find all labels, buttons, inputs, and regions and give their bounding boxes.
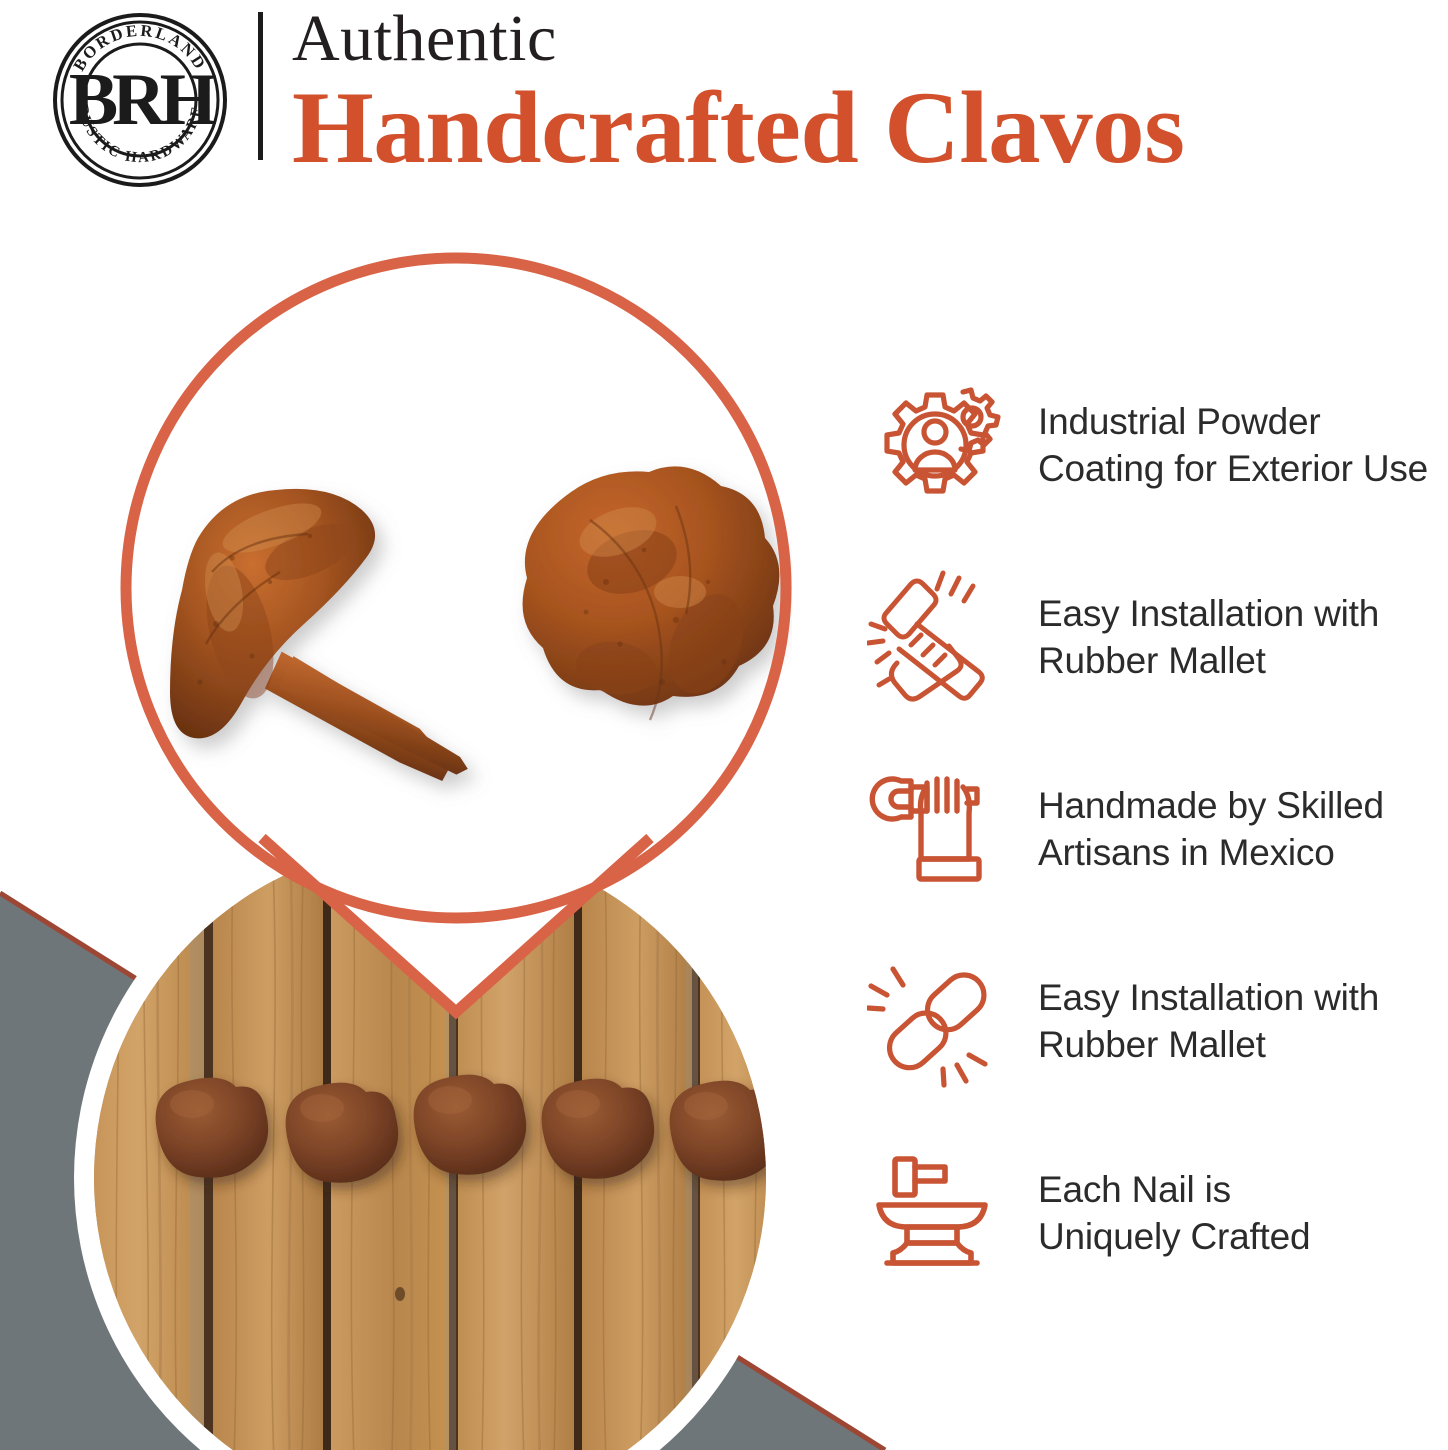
chain-link-icon <box>862 951 1012 1091</box>
header-divider <box>258 12 263 160</box>
feature-text-line: Each Nail is <box>1038 1166 1310 1213</box>
feature-text: Industrial Powder Coating for Exterior U… <box>1012 398 1428 492</box>
fist-wrench-icon <box>862 759 1012 899</box>
borderland-rustic-hardware-logo: BORDERLAND RUSTIC HARDWARE BRH <box>52 12 228 188</box>
feature-text-line: Easy Installation with <box>1038 974 1379 1021</box>
feature-item: Easy Installation with Rubber Mallet <box>862 948 1448 1094</box>
feature-text-line: Artisans in Mexico <box>1038 829 1384 876</box>
feature-text: Handmade by Skilled Artisans in Mexico <box>1012 782 1384 876</box>
magnifier-callout <box>120 252 792 1022</box>
feature-text-line: Easy Installation with <box>1038 590 1379 637</box>
title-line-authentic: Authentic <box>292 2 1442 76</box>
title-line-handcrafted-clavos: Handcrafted Clavos <box>292 76 1448 180</box>
gear-person-icon <box>862 375 1012 515</box>
feature-text-line: Handmade by Skilled <box>1038 782 1384 829</box>
feature-item: Industrial Powder Coating for Exterior U… <box>862 372 1448 518</box>
feature-item: Easy Installation with Rubber Mallet <box>862 564 1448 710</box>
feature-text-line: Rubber Mallet <box>1038 1021 1379 1068</box>
page-title: Authentic Handcrafted Clavos <box>292 2 1442 180</box>
anvil-hammer-icon <box>862 1143 1012 1283</box>
feature-item: Each Nail is Uniquely Crafted <box>862 1140 1448 1286</box>
feature-text: Easy Installation with Rubber Mallet <box>1012 974 1379 1068</box>
feature-text-line: Coating for Exterior Use <box>1038 445 1428 492</box>
infographic-canvas: BORDERLAND RUSTIC HARDWARE BRH Authentic… <box>0 0 1448 1450</box>
feature-text-line: Industrial Powder <box>1038 398 1428 445</box>
feature-text: Easy Installation with Rubber Mallet <box>1012 590 1379 684</box>
feature-text-line: Rubber Mallet <box>1038 637 1379 684</box>
feature-item: Handmade by Skilled Artisans in Mexico <box>862 756 1448 902</box>
feature-text-line: Uniquely Crafted <box>1038 1213 1310 1260</box>
logo-monogram: BRH <box>69 59 217 141</box>
feature-text: Each Nail is Uniquely Crafted <box>1012 1166 1310 1260</box>
header: BORDERLAND RUSTIC HARDWARE BRH Authentic… <box>0 0 1448 200</box>
feature-list: Industrial Powder Coating for Exterior U… <box>862 372 1448 1332</box>
hand-mallet-icon <box>862 567 1012 707</box>
